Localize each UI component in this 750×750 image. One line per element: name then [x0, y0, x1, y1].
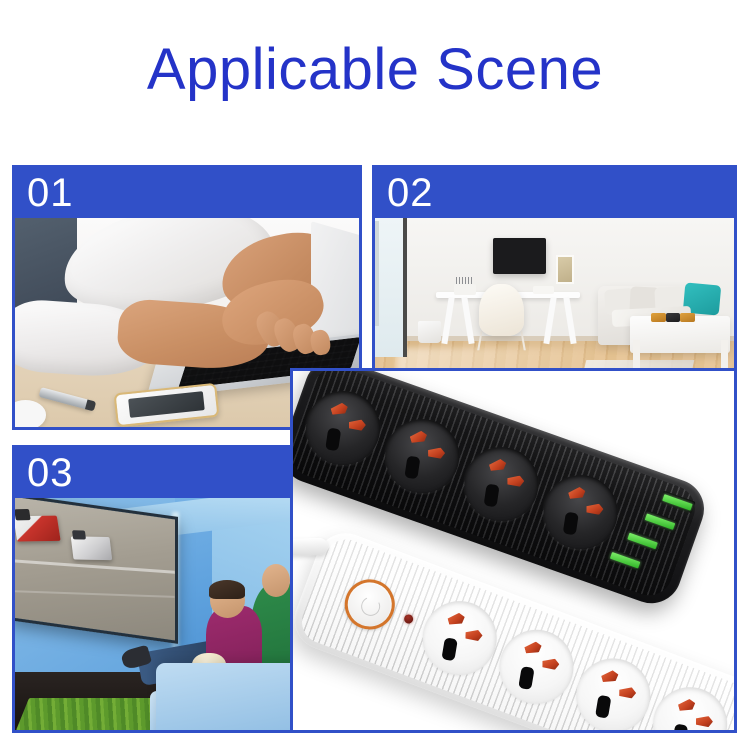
- scene2-candle-holder: [666, 313, 680, 322]
- socket-earth-slot: [325, 428, 341, 452]
- socket-earth-slot: [563, 512, 579, 536]
- socket-live-pin: [409, 430, 428, 445]
- scene2-desk-cups: [454, 284, 476, 295]
- socket-live-pin: [678, 698, 697, 713]
- socket-neutral-pin: [507, 476, 524, 487]
- socket-neutral-pin: [428, 448, 445, 459]
- scene-panel-03: 03: [12, 445, 299, 733]
- usb-port: [642, 510, 678, 533]
- scene2-table-leg: [721, 340, 727, 369]
- scene2-candle-holder: [680, 313, 694, 322]
- socket-earth-slot: [442, 637, 458, 661]
- scene2-candle-holder: [651, 313, 665, 322]
- living-room-scene: [375, 218, 734, 387]
- socket-neutral-pin: [619, 688, 636, 699]
- panel-03-photo: [15, 498, 296, 733]
- socket-live-pin: [568, 486, 587, 501]
- scene2-window-frame: [375, 221, 379, 326]
- socket-earth-slot: [484, 484, 500, 508]
- scene-panel-02: 02: [372, 165, 737, 387]
- socket-live-pin: [601, 669, 620, 684]
- panel-01-header: 01: [15, 168, 359, 218]
- socket-neutral-pin: [542, 659, 559, 670]
- panel-03-header: 03: [15, 448, 296, 498]
- scene3-child-hair: [209, 580, 246, 599]
- panel-02-header: 02: [375, 168, 734, 218]
- scene2-wall-picture: [556, 255, 574, 284]
- panel-02-number: 02: [375, 173, 434, 213]
- usb-port: [625, 529, 661, 552]
- socket-live-pin: [447, 612, 466, 627]
- socket-neutral-pin: [586, 504, 603, 515]
- panel-03-number: 03: [15, 453, 74, 493]
- panel-01-number: 01: [15, 173, 74, 213]
- scene3-sofa: [156, 663, 297, 734]
- scene2-waste-bin: [418, 321, 441, 343]
- scene3-adult-head: [262, 564, 290, 597]
- scene2-table-leg: [633, 340, 639, 369]
- socket-earth-slot: [518, 666, 534, 690]
- scene2-window: [375, 218, 407, 357]
- scene2-wall-monitor: [493, 238, 545, 273]
- panel-02-photo: [375, 218, 734, 387]
- socket-earth-slot: [595, 695, 611, 719]
- socket-live-pin: [524, 640, 543, 655]
- home-theatre-scene: [15, 498, 296, 733]
- page-title: Applicable Scene: [0, 38, 750, 102]
- socket-earth-slot: [672, 724, 688, 733]
- socket-live-pin: [330, 401, 349, 416]
- product-overlay: [290, 368, 737, 733]
- scene1-phone-screen: [128, 390, 205, 417]
- scene3-race-car-silver: [71, 536, 113, 560]
- socket-neutral-pin: [465, 630, 482, 641]
- product-infographic: Applicable Scene 01: [0, 0, 750, 750]
- socket-neutral-pin: [348, 420, 365, 431]
- scene2-eames-chair: [479, 284, 524, 336]
- scene3-tv-screen: [15, 498, 178, 644]
- power-cable: [290, 538, 328, 557]
- usb-port: [607, 548, 643, 571]
- scene3-race-car-red: [15, 515, 61, 541]
- socket-live-pin: [489, 458, 508, 473]
- socket-neutral-pin: [695, 716, 712, 727]
- socket-earth-slot: [405, 456, 421, 480]
- scene2-desk-books: [533, 286, 555, 294]
